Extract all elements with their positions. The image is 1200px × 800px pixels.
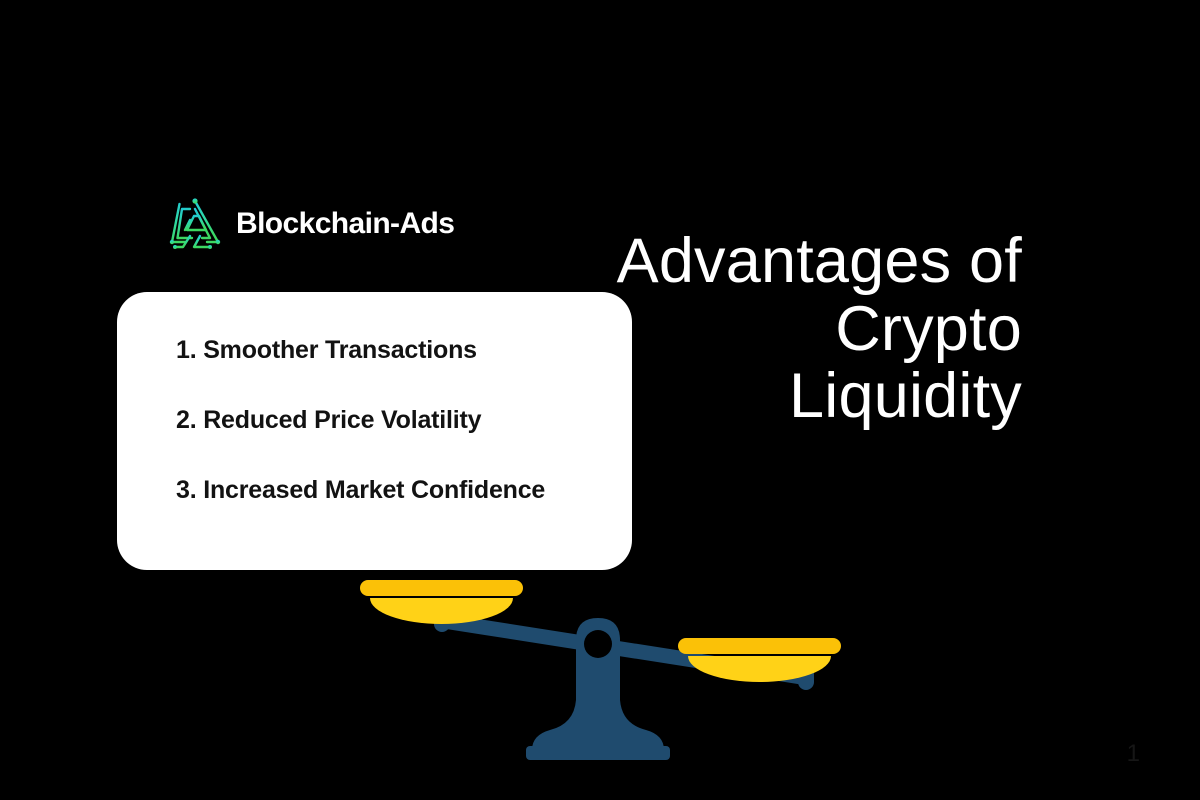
advantages-list-card: 1. Smoother Transactions 2. Reduced Pric… xyxy=(117,292,632,570)
list-item: 3. Increased Market Confidence xyxy=(176,478,602,503)
right-pan xyxy=(678,638,841,682)
list-item: 1. Smoother Transactions xyxy=(176,338,602,363)
scale-pivot-hole xyxy=(584,630,612,658)
blockchain-ads-triangle-logo-icon xyxy=(166,196,224,252)
slide-root: Blockchain-Ads Advantages of Crypto Liqu… xyxy=(0,0,1200,800)
brand-lockup: Blockchain-Ads xyxy=(166,196,454,252)
headline-line-1: Advantages of xyxy=(462,228,1022,295)
left-pan xyxy=(360,580,523,624)
brand-name: Blockchain-Ads xyxy=(236,209,454,239)
balance-scale-icon xyxy=(330,560,870,770)
list-item: 2. Reduced Price Volatility xyxy=(176,408,602,433)
page-number: 1 xyxy=(1127,742,1140,766)
